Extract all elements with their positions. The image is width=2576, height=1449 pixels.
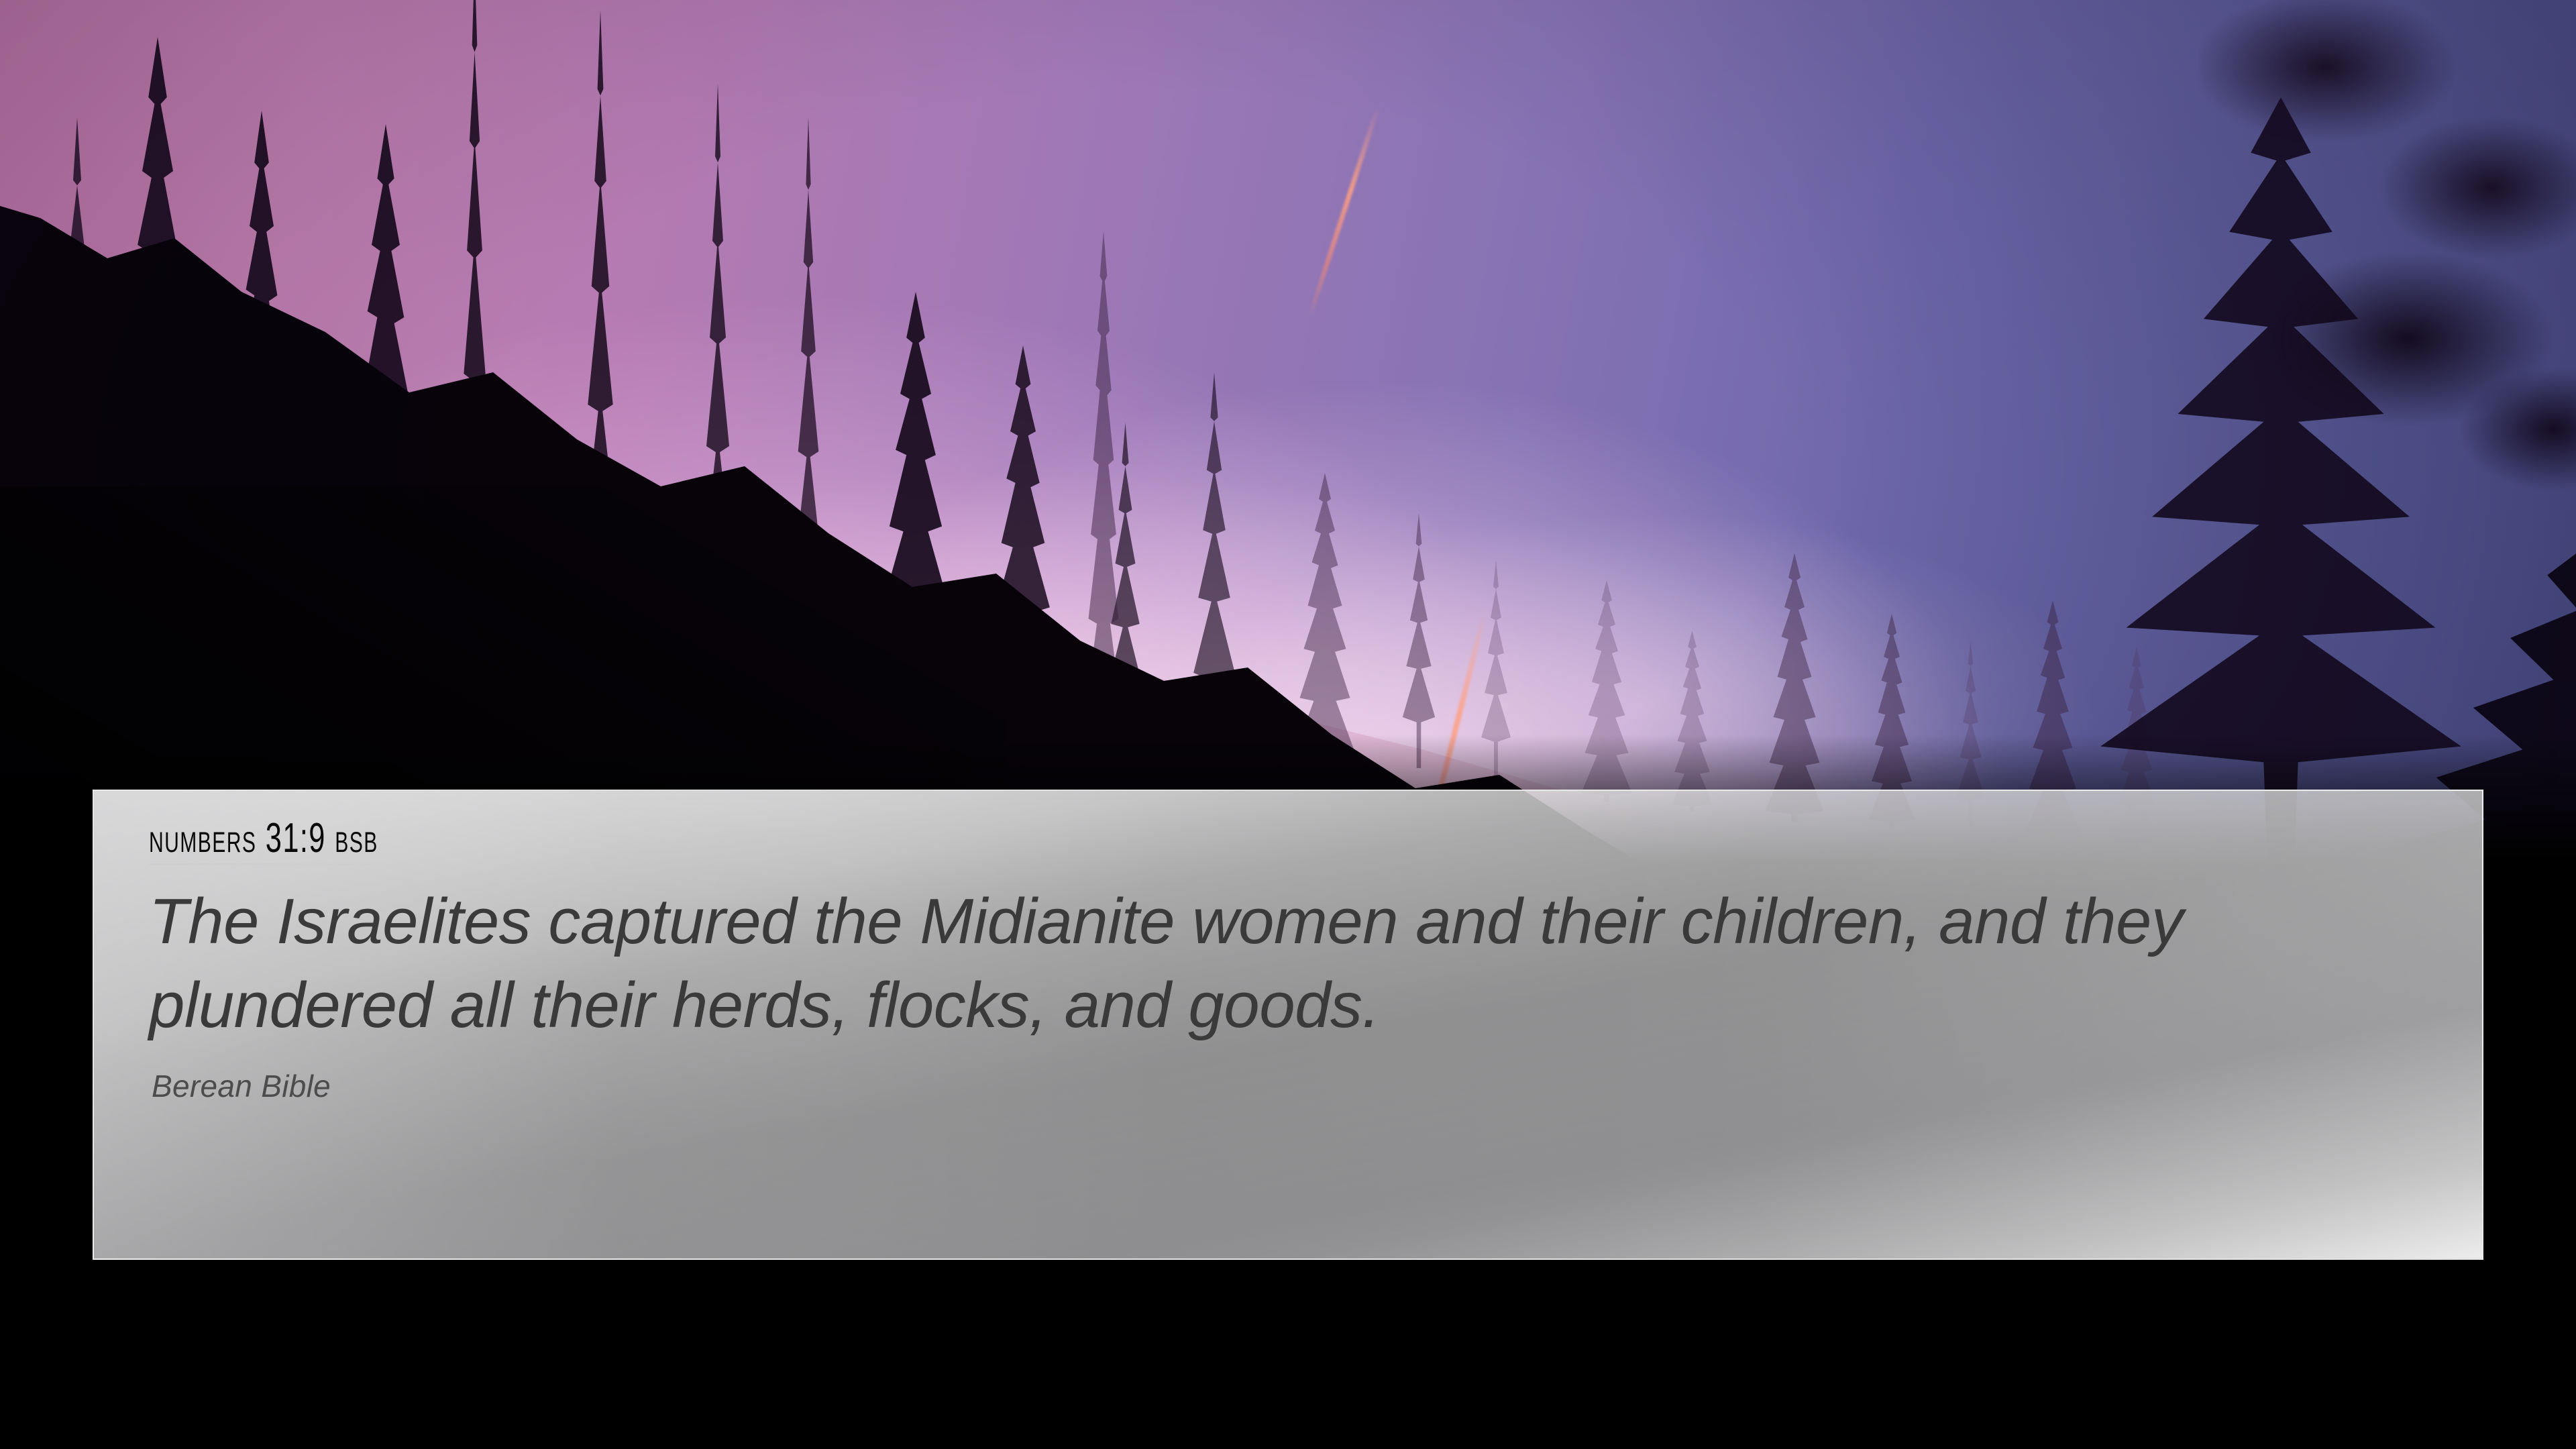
verse-image-canvas: Numbers 31:9 BSB The Israelites captured… — [0, 0, 2576, 1449]
photo-vignette — [0, 0, 2576, 862]
verse-attribution: Berean Bible — [152, 1068, 2482, 1104]
verse-card: Numbers 31:9 BSB The Israelites captured… — [93, 790, 2483, 1260]
background-photo — [0, 0, 2576, 862]
verse-card-content: Numbers 31:9 BSB The Israelites captured… — [149, 818, 2482, 1104]
verse-reference: Numbers 31:9 BSB — [149, 818, 385, 865]
verse-text: The Israelites captured the Midianite wo… — [149, 880, 2363, 1048]
